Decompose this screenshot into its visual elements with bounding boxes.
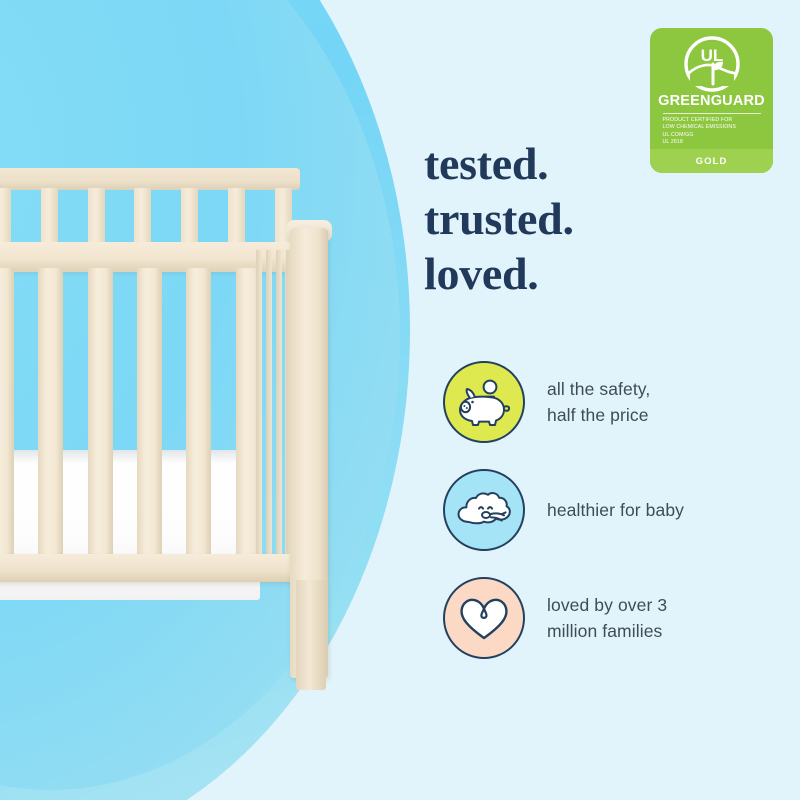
headline-line-1: tested. bbox=[424, 136, 574, 191]
crib-product-image bbox=[0, 150, 380, 690]
headline: tested. trusted. loved. bbox=[424, 136, 574, 301]
feature-text-safety: all the safety, half the price bbox=[547, 376, 650, 428]
feature-healthier-line-1: healthier for baby bbox=[547, 497, 684, 523]
heart-icon bbox=[443, 577, 525, 659]
badge-fine-print: PRODUCT CERTIFIED FOR LOW CHEMICAL EMISS… bbox=[663, 117, 761, 147]
greenguard-gold-badge: UL GREENGUARD PRODUCT CERTIFIED FOR LOW … bbox=[650, 28, 773, 173]
headline-line-2: trusted. bbox=[424, 191, 574, 246]
fine-print-line-3: UL.COM/GG bbox=[663, 132, 761, 139]
marketing-poster: UL GREENGUARD PRODUCT CERTIFIED FOR LOW … bbox=[0, 0, 800, 800]
fine-print-line-4: UL 2818 bbox=[663, 139, 761, 146]
headline-line-3: loved. bbox=[424, 246, 574, 301]
greenguard-brand-label: GREENGUARD bbox=[658, 93, 765, 109]
crib-bottom-rail bbox=[0, 554, 320, 582]
feature-loved-line-1: loved by over 3 bbox=[547, 592, 667, 618]
crib-leg bbox=[296, 580, 326, 690]
badge-gold-band: GOLD bbox=[650, 149, 773, 173]
feature-safety-line-1: all the safety, bbox=[547, 376, 650, 402]
crib-side-slats bbox=[256, 250, 292, 560]
ul-leaf-mark-icon: UL bbox=[684, 36, 740, 92]
badge-level-label: GOLD bbox=[696, 156, 728, 167]
fine-print-line-2: LOW CHEMICAL EMISSIONS bbox=[663, 124, 761, 131]
feature-row-healthier: healthier for baby bbox=[443, 456, 773, 564]
piggy-bank-icon bbox=[443, 361, 525, 443]
feature-text-healthier: healthier for baby bbox=[547, 497, 684, 523]
feature-safety-line-2: half the price bbox=[547, 402, 650, 428]
feature-row-safety: all the safety, half the price bbox=[443, 348, 773, 456]
fine-print-line-1: PRODUCT CERTIFIED FOR bbox=[663, 117, 761, 124]
crib-back-slats bbox=[0, 188, 292, 250]
feature-text-loved: loved by over 3 million families bbox=[547, 592, 667, 644]
feature-loved-line-2: million families bbox=[547, 618, 667, 644]
badge-divider bbox=[663, 113, 761, 114]
crib-back-top-rail bbox=[0, 168, 300, 190]
feature-list: all the safety, half the price healthier… bbox=[443, 348, 773, 672]
feature-row-loved: loved by over 3 million families bbox=[443, 564, 773, 672]
cloud-blowing-icon bbox=[443, 469, 525, 551]
